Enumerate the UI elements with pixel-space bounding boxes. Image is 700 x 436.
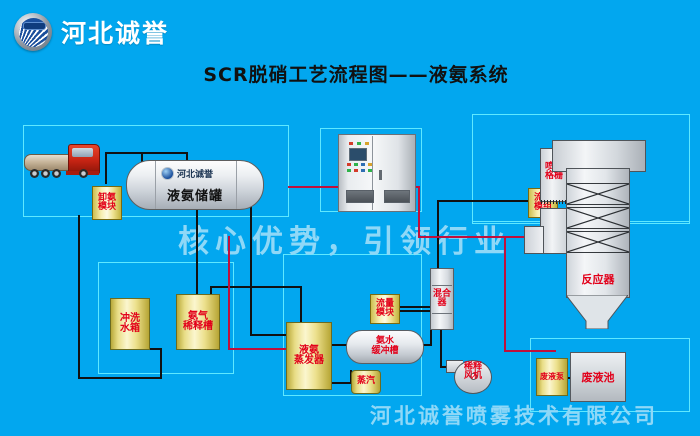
- pipe-left-riser: [78, 215, 80, 377]
- pipe-mixer-top-riser: [437, 200, 439, 270]
- static-mixer[interactable]: 混合器: [430, 268, 454, 330]
- catalyst-layer-icon: [567, 232, 629, 252]
- dilution-fan[interactable]: 稀释 风机: [446, 356, 490, 392]
- company-name: 河北诚誉: [61, 14, 169, 50]
- pipe-tank-right-down: [250, 196, 252, 334]
- ammonia-dilution-tank[interactable]: 氨气 稀释槽: [176, 294, 220, 350]
- signal-to-waste: [504, 350, 556, 352]
- diagram-canvas: 河北诚誉 SCR脱硝工艺流程图——液氨系统 核心优势，引领行业 河北诚誉喷雾技术…: [0, 0, 700, 436]
- ammonia-injection-grid-bars: [541, 200, 567, 204]
- tank-brand: 河北诚誉: [161, 167, 213, 180]
- company-logo-icon: [14, 13, 52, 51]
- flue-duct-elbow: [524, 226, 544, 254]
- pipe-mixer-down: [440, 328, 442, 366]
- catalyst-layer-icon: [567, 208, 629, 228]
- control-cabinet[interactable]: [338, 134, 416, 212]
- signal-cabinet-link: [418, 186, 420, 238]
- ammonia-water-buffer-tank[interactable]: 氨水 缓冲槽: [346, 330, 424, 364]
- pipe-evap-in: [256, 334, 286, 336]
- waste-liquid-pump[interactable]: 废液泵: [536, 358, 568, 396]
- pipe-bottom-left-run: [78, 377, 162, 379]
- liquid-ammonia-storage-tank[interactable]: 河北诚誉 液氨储罐: [126, 160, 264, 210]
- tank-logo-icon: [161, 167, 174, 180]
- reactor-hopper: [566, 295, 628, 329]
- tank-label: 液氨储罐: [127, 185, 263, 204]
- ammonia-tanker-truck-icon: [24, 140, 104, 188]
- scr-reactor[interactable]: 反应器: [566, 168, 630, 298]
- signal-cabinet-right: [420, 236, 530, 238]
- pipe-flowmod-to-mixer-a: [398, 306, 430, 308]
- signal-right-riser: [504, 238, 506, 350]
- hmi-screen-icon: [349, 148, 367, 161]
- pipe-dilution-header-down: [300, 286, 302, 322]
- unload-module-box[interactable]: 卸氨 模块: [92, 186, 122, 220]
- pipe-truck-to-tank-top: [105, 152, 141, 154]
- pipe-tank-top-run: [141, 152, 187, 154]
- pipe-flush-tank-down: [160, 348, 162, 378]
- catalyst-layer-icon: [567, 184, 629, 204]
- flush-water-tank[interactable]: 冲洗 水箱: [110, 298, 150, 350]
- liquid-ammonia-evaporator[interactable]: 液氨 蒸发器: [286, 322, 332, 390]
- pipe-to-flowmodule-right: [437, 200, 528, 202]
- page-title: SCR脱硝工艺流程图——液氨系统: [0, 60, 700, 87]
- pipe-flush-tank-out: [148, 348, 162, 350]
- pipe-evap-steam: [330, 382, 352, 384]
- mixer-label: 混合器: [431, 290, 453, 309]
- signal-down-left: [228, 236, 230, 350]
- steam-source[interactable]: 蒸汽: [351, 370, 381, 394]
- pipe-flowmod-to-mixer-b: [398, 310, 430, 312]
- pipe-dilution-header: [210, 286, 300, 288]
- reactor-label: 反应器: [567, 271, 629, 287]
- waste-liquid-pool[interactable]: 废液池: [570, 352, 626, 402]
- pipe-truck-down: [105, 152, 107, 184]
- flow-module-mid[interactable]: 流量 模块: [370, 294, 400, 324]
- brand-logo: 河北诚誉: [14, 12, 234, 52]
